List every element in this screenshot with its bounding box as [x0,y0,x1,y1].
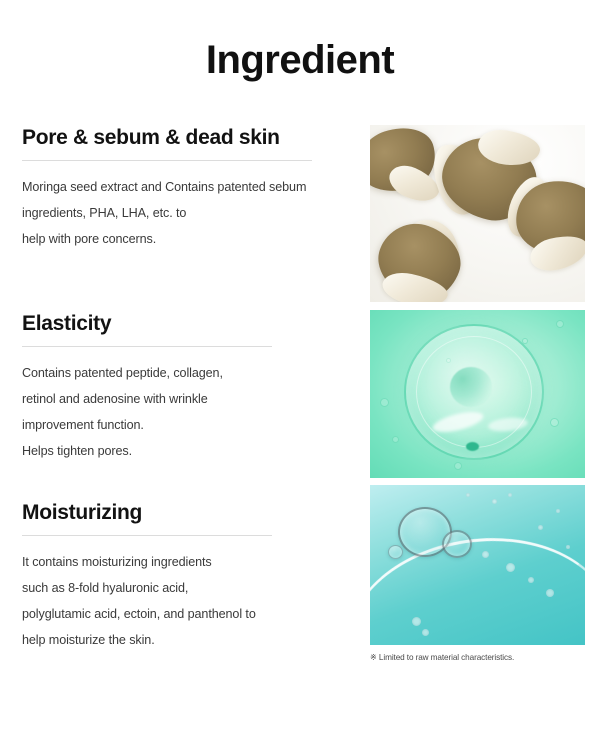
medium-bubble [442,530,472,558]
micro-bubble [506,563,515,572]
section-heading-pore: Pore & sebum & dead skin [22,126,352,150]
body-line: retinol and adenosine with wrinkle [22,386,352,412]
ingredient-section-elasticity: Elasticity Contains patented peptide, co… [22,312,352,464]
capsule-bubble [404,324,544,460]
micro-bubble [566,545,570,549]
body-line: Helps tighten pores. [22,438,352,464]
ingredient-section-pore: Pore & sebum & dead skin Moringa seed ex… [22,126,352,252]
micro-bubble [528,577,534,583]
micro-bubble [556,509,560,513]
micro-bubble [550,418,559,427]
micro-bubble [492,499,497,504]
ingredient-page: Ingredient Pore & sebum & dead skin Mori… [0,0,600,750]
body-line: Contains patented peptide, collagen, [22,360,352,386]
micro-bubble [546,589,554,597]
section-body-moisturizing: It contains moisturizing ingredients suc… [22,549,352,653]
body-line: ingredients, PHA, LHA, etc. to [22,200,352,226]
footnote-text: ※ Limited to raw material characteristic… [370,653,585,664]
body-line: help with pore concerns. [22,226,352,252]
page-title: Ingredient [0,38,600,82]
micro-bubble [422,629,429,636]
mint-bubble-capsule-photo [370,310,585,478]
micro-bubble [508,493,512,497]
section-heading-moisturizing: Moisturizing [22,501,352,525]
moringa-seeds-photo [370,125,585,302]
micro-bubble [482,551,489,558]
bubble-dark-spot [466,442,479,451]
body-line: help moisturize the skin. [22,627,352,653]
ingredient-section-moisturizing: Moisturizing It contains moisturizing in… [22,501,352,653]
section-divider [22,535,272,536]
section-body-pore: Moringa seed extract and Contains patent… [22,174,352,252]
micro-bubble [392,436,399,443]
body-line: polyglutamic acid, ectoin, and panthenol… [22,601,352,627]
section-divider [22,346,272,347]
section-body-elasticity: Contains patented peptide, collagen, ret… [22,360,352,464]
bubble-core [450,367,492,407]
body-line: improvement function. [22,412,352,438]
micro-bubble [556,320,564,328]
body-line: Moringa seed extract and Contains patent… [22,174,352,200]
micro-bubble [380,398,389,407]
section-heading-elasticity: Elasticity [22,312,352,336]
body-line: It contains moisturizing ingredients [22,549,352,575]
micro-bubble [466,493,470,497]
small-bubble [388,545,403,559]
section-divider [22,160,312,161]
micro-bubble [538,525,543,530]
teal-water-bubbles-photo [370,485,585,645]
micro-bubble [412,617,421,626]
micro-bubble [454,462,462,470]
body-line: such as 8-fold hyaluronic acid, [22,575,352,601]
